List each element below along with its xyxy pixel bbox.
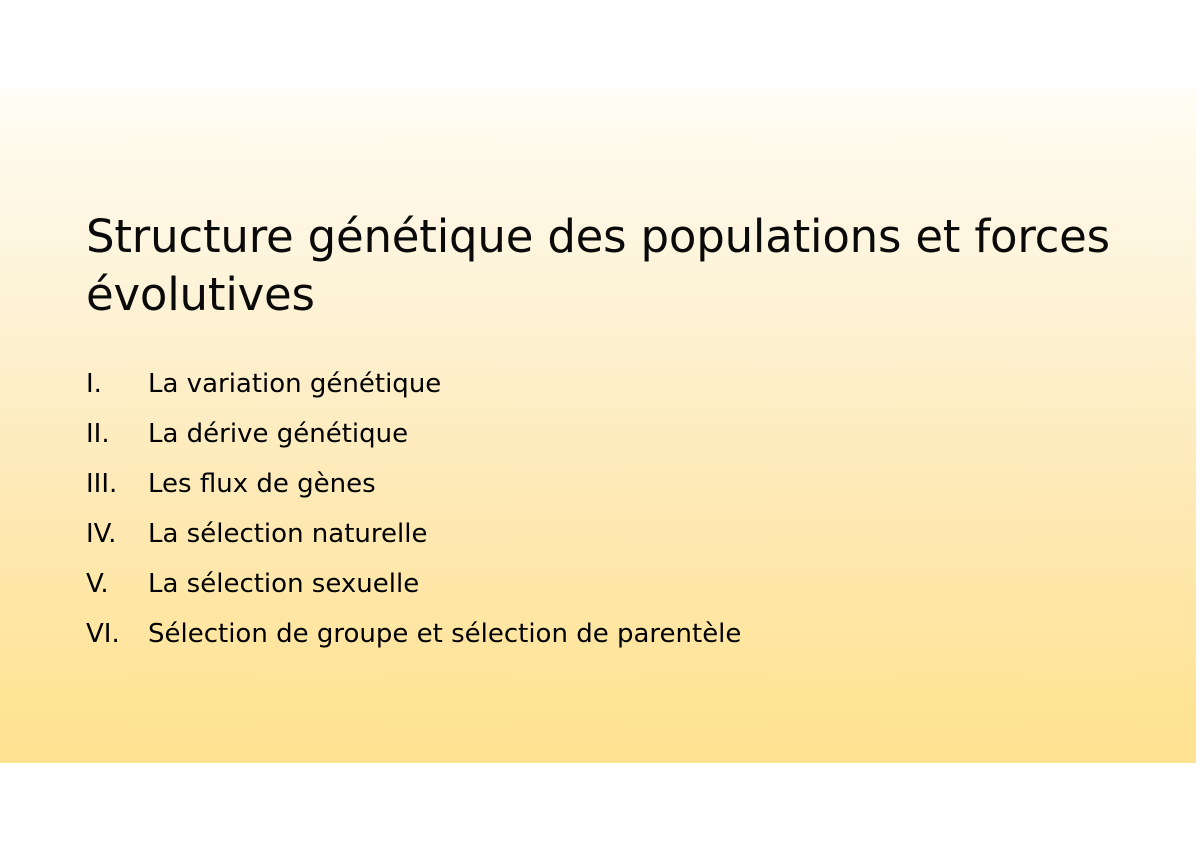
list-item-label: La sélection sexuelle xyxy=(148,559,419,609)
list-item-marker: III. xyxy=(86,459,148,509)
list-item: IV. La sélection naturelle xyxy=(86,509,1106,559)
outline-list: I. La variation génétique II. La dérive … xyxy=(86,359,1106,659)
list-item-label: Sélection de groupe et sélection de pare… xyxy=(148,609,741,659)
slide-title: Structure génétique des populations et f… xyxy=(86,208,1116,324)
list-item-label: La dérive génétique xyxy=(148,409,408,459)
presentation-slide: Structure génétique des populations et f… xyxy=(0,88,1196,763)
list-item: II. La dérive génétique xyxy=(86,409,1106,459)
list-item-marker: I. xyxy=(86,359,148,409)
list-item-marker: IV. xyxy=(86,509,148,559)
list-item: VI. Sélection de groupe et sélection de … xyxy=(86,609,1106,659)
list-item-marker: V. xyxy=(86,559,148,609)
list-item: I. La variation génétique xyxy=(86,359,1106,409)
slide-canvas: Structure génétique des populations et f… xyxy=(0,0,1200,849)
list-item: III. Les flux de gènes xyxy=(86,459,1106,509)
list-item-marker: II. xyxy=(86,409,148,459)
list-item: V. La sélection sexuelle xyxy=(86,559,1106,609)
list-item-label: La variation génétique xyxy=(148,359,441,409)
list-item-label: Les flux de gènes xyxy=(148,459,376,509)
list-item-marker: VI. xyxy=(86,609,148,659)
list-item-label: La sélection naturelle xyxy=(148,509,427,559)
